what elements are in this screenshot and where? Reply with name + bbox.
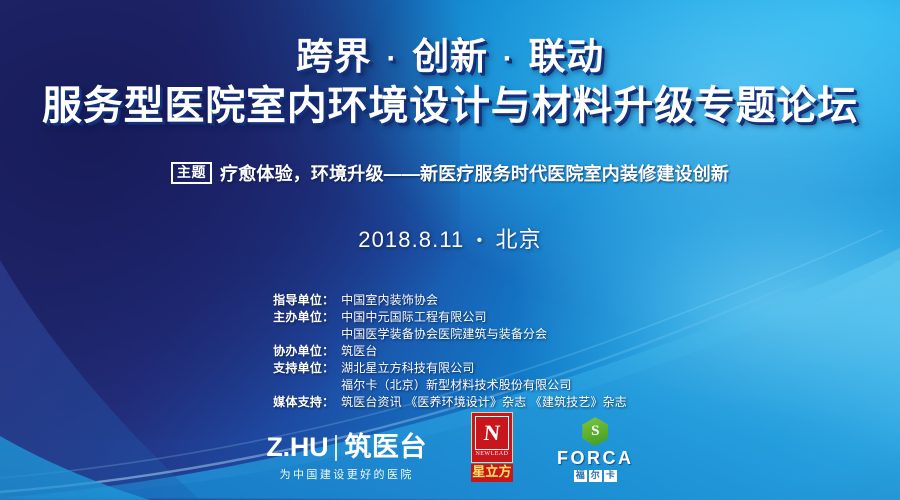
organization-value: 中国中元国际工程有限公司: [341, 309, 486, 326]
forca-hexagon-icon: S: [582, 417, 608, 446]
theme-row: 主题 疗愈体验，环境升级——新医疗服务时代医院室内装修建设创新: [0, 160, 900, 186]
organization-value: 福尔卡（北京）新型材料技术股份有限公司: [341, 377, 571, 394]
organization-row-continued: 中国医学装备协会医院建筑与装备分会: [273, 326, 627, 343]
zhuyitai-divider: [335, 435, 337, 461]
organization-label: 指导单位：: [273, 292, 341, 309]
title-word-3: 联动: [529, 36, 604, 77]
logo-strip: Z.HU 筑医台 为中国建设更好的医院 N NEWLEAD 星立方 S: [0, 412, 900, 482]
organization-row-continued: 福尔卡（北京）新型材料技术股份有限公司: [273, 377, 627, 394]
organization-label: 协办单位：: [273, 343, 341, 360]
logo-forca[interactable]: S FORCA 福 尔 卡: [557, 417, 634, 482]
forca-latin-name: FORCA: [557, 449, 634, 467]
forca-mark-letter: S: [591, 424, 599, 439]
organizations-block: 指导单位： 中国室内装饰协会 主办单位： 中国中元国际工程有限公司 中国医学装备…: [0, 292, 900, 411]
forca-chinese-char: 卡: [604, 470, 617, 482]
organization-label: 支持单位：: [273, 360, 341, 377]
organization-value: 筑医台: [341, 343, 377, 360]
organization-label: 媒体支持：: [273, 394, 341, 411]
organization-label: 主办单位：: [273, 309, 341, 326]
date-location-line: 2018.8.11 • 北京: [0, 222, 900, 254]
zhuyitai-tagline: 为中国建设更好的医院: [280, 466, 414, 482]
organization-value: 中国室内装饰协会: [341, 292, 438, 309]
event-date: 2018.8.11: [358, 227, 464, 252]
organization-row: 指导单位： 中国室内装饰协会: [273, 292, 627, 309]
organization-value: 湖北星立方科技有限公司: [341, 360, 474, 377]
organization-value: 筑医台资讯 《医养环境设计》杂志 《建筑技艺》杂志: [341, 394, 627, 411]
title-word-2: 创新: [412, 36, 487, 77]
newlead-latin-name: NEWLEAD: [475, 450, 509, 459]
main-title-line-2: 服务型医院室内环境设计与材料升级专题论坛: [0, 86, 900, 126]
forca-chinese-char: 福: [574, 470, 587, 482]
title-word-1: 跨界: [296, 36, 371, 77]
title-dot-separator-2: ·: [499, 42, 518, 75]
newlead-chinese-name: 星立方: [471, 464, 513, 482]
theme-badge: 主题: [171, 162, 212, 184]
logo-zhuyitai[interactable]: Z.HU 筑医台 为中国建设更好的医院: [266, 434, 427, 482]
zhuyitai-latin-mark: Z.HU: [266, 434, 328, 461]
main-title-line-1: 跨界 · 创新 · 联动: [0, 38, 900, 75]
zhuyitai-chinese-mark: 筑医台: [344, 434, 427, 461]
title-dot-separator-1: ·: [382, 42, 401, 75]
date-location-separator: •: [472, 232, 489, 249]
event-location: 北京: [496, 227, 542, 252]
forum-banner: 跨界 · 创新 · 联动 服务型医院室内环境设计与材料升级专题论坛 主题 疗愈体…: [0, 0, 900, 500]
theme-text: 疗愈体验，环境升级——新医疗服务时代医院室内装修建设创新: [220, 160, 729, 186]
organization-row: 主办单位： 中国中元国际工程有限公司: [273, 309, 627, 326]
newlead-emblem: N: [475, 416, 509, 450]
newlead-mark-letter: N: [483, 422, 501, 444]
logo-newlead[interactable]: N NEWLEAD 星立方: [471, 412, 513, 482]
forca-chinese-char: 尔: [589, 470, 602, 482]
organization-row: 协办单位： 筑医台: [273, 343, 627, 360]
forca-chinese-name: 福 尔 卡: [574, 470, 617, 482]
organization-value: 中国医学装备协会医院建筑与装备分会: [341, 326, 547, 343]
organization-row: 支持单位： 湖北星立方科技有限公司: [273, 360, 627, 377]
organization-row: 媒体支持： 筑医台资讯 《医养环境设计》杂志 《建筑技艺》杂志: [273, 394, 627, 411]
title-block: 跨界 · 创新 · 联动 服务型医院室内环境设计与材料升级专题论坛: [0, 38, 900, 126]
banner-content: 跨界 · 创新 · 联动 服务型医院室内环境设计与材料升级专题论坛 主题 疗愈体…: [0, 0, 900, 500]
